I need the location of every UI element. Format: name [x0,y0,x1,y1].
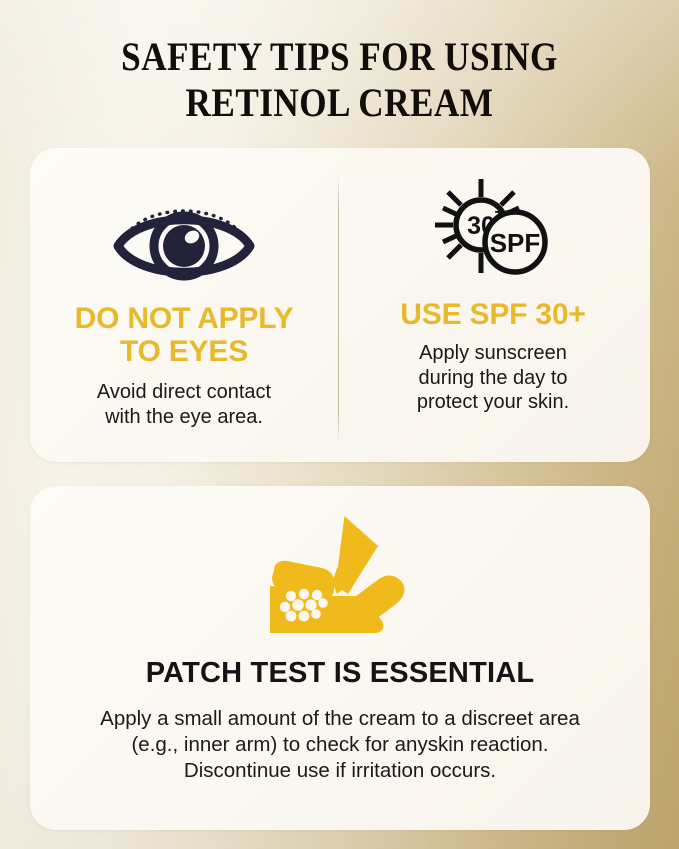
tip-spf-body-line-1: Apply sunscreen [419,342,567,364]
eye-icon [34,178,334,288]
tip-spf-panel: 30 + SPF USE SPF 30+ Apply sunscreen dur… [342,160,644,415]
infographic-page: SAFETY TIPS FOR USING RETINOL CREAM DO N… [0,0,679,849]
spf-label: SPF [490,228,541,258]
tip-eye-heading-line-1: DO NOT APPLY [75,302,294,335]
tip-spf-body-line-3: protect your skin. [417,391,569,413]
patch-test-body-line-2: (e.g., inner arm) to check for anyskin r… [55,732,625,758]
patch-test-body: Apply a small amount of the cream to a d… [55,706,625,784]
patch-test-body-line-1: Apply a small amount of the cream to a d… [55,706,625,732]
tip-eye-body-line-2: with the eye area. [105,406,263,428]
tip-eye-body-line-1: Avoid direct contact [97,381,271,403]
tip-eye-heading: DO NOT APPLY TO EYES [34,302,334,368]
patch-test-heading: PATCH TEST IS ESSENTIAL [30,657,650,690]
tip-eye-panel: DO NOT APPLY TO EYES Avoid direct contac… [34,160,334,429]
page-title-line-2: RETINOL CREAM [41,80,639,126]
sun-spf-icon: 30 + SPF [342,174,644,284]
tip-spf-body-line-2: during the day to [419,367,568,389]
tip-eye-body: Avoid direct contact with the eye area. [34,380,334,429]
tip-spf-body: Apply sunscreen during the day to protec… [342,341,644,415]
page-title-line-1: SAFETY TIPS FOR USING [121,34,558,79]
tip-eye-heading-line-2: TO EYES [120,335,248,368]
tip-spf-heading: USE SPF 30+ [342,298,644,331]
patch-test-body-line-3: Discontinue use if irritation occurs. [55,758,625,784]
hand-cream-tube-icon [0,508,679,640]
page-title: SAFETY TIPS FOR USING RETINOL CREAM [41,34,639,126]
card-divider [338,176,339,444]
